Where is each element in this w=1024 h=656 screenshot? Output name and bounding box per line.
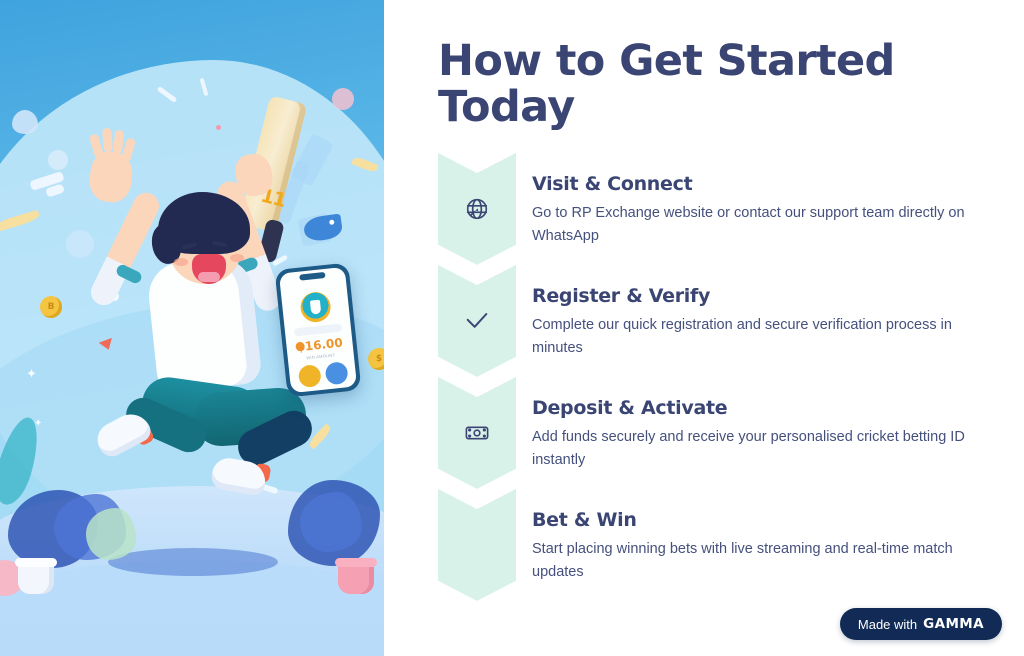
- phone-name-pill: [294, 324, 343, 337]
- steps-list: Visit & Connect Go to RP Exchange websit…: [438, 153, 966, 601]
- step-text: Deposit & Activate Add funds securely an…: [516, 377, 966, 473]
- step-title: Register & Verify: [532, 285, 966, 307]
- page-title: How to Get Started Today: [438, 38, 958, 131]
- step-title: Bet & Win: [532, 509, 966, 531]
- phone-mockup: $16.00 WIN AMOUNT: [275, 262, 362, 397]
- phone-screen: $16.00 WIN AMOUNT: [279, 267, 357, 393]
- content-panel: How to Get Started Today: [384, 0, 1024, 656]
- step-title: Deposit & Activate: [532, 397, 966, 419]
- player-cheek: [174, 258, 188, 266]
- globe-cursor-icon: [464, 196, 490, 222]
- clover-decoration: [12, 110, 38, 134]
- banknote-icon: [464, 420, 490, 446]
- player-finger: [121, 137, 136, 163]
- step-description: Start placing winning bets with live str…: [532, 538, 966, 585]
- coin-icon: $: [368, 348, 384, 370]
- step-text: Visit & Connect Go to RP Exchange websit…: [516, 153, 966, 249]
- sparkle-icon: ✦: [26, 366, 37, 382]
- badge-prefix-label: Made with: [858, 617, 917, 632]
- player-legs: [128, 374, 318, 506]
- step-item: Deposit & Activate Add funds securely an…: [438, 377, 966, 489]
- phone-label-bar: [300, 390, 320, 393]
- step-description: Complete our quick registration and secu…: [532, 314, 966, 361]
- phone-action-button-primary: [298, 364, 322, 388]
- step-marker: [438, 153, 516, 265]
- step-item: Visit & Connect Go to RP Exchange websit…: [438, 153, 966, 265]
- made-with-gamma-badge[interactable]: Made with GAMMA: [840, 608, 1002, 640]
- step-description: Add funds securely and receive your pers…: [532, 426, 966, 473]
- flower-pot: [338, 562, 374, 594]
- step-marker: [438, 377, 516, 489]
- player-cheek: [230, 254, 244, 262]
- step-item: Bet & Win Start placing winning bets wit…: [438, 489, 966, 601]
- step-description: Go to RP Exchange website or contact our…: [532, 202, 966, 249]
- player-finger: [102, 128, 113, 153]
- badge-brand-label: GAMMA: [923, 616, 984, 632]
- step-text: Bet & Win Start placing winning bets wit…: [516, 489, 966, 585]
- slide-root: ✦ ✦ ✦ B $ 11: [0, 0, 1024, 656]
- check-icon: [463, 307, 491, 335]
- step-title: Visit & Connect: [532, 173, 966, 195]
- hero-illustration: ✦ ✦ ✦ B $ 11: [0, 0, 384, 656]
- phone-action-button-secondary: [325, 361, 349, 385]
- step-marker: [438, 489, 516, 601]
- step-text: Register & Verify Complete our quick reg…: [516, 265, 966, 361]
- phone-notch: [299, 272, 325, 281]
- step-marker: [438, 265, 516, 377]
- trophy-avatar-icon: [299, 291, 332, 324]
- step-item: Register & Verify Complete our quick reg…: [438, 265, 966, 377]
